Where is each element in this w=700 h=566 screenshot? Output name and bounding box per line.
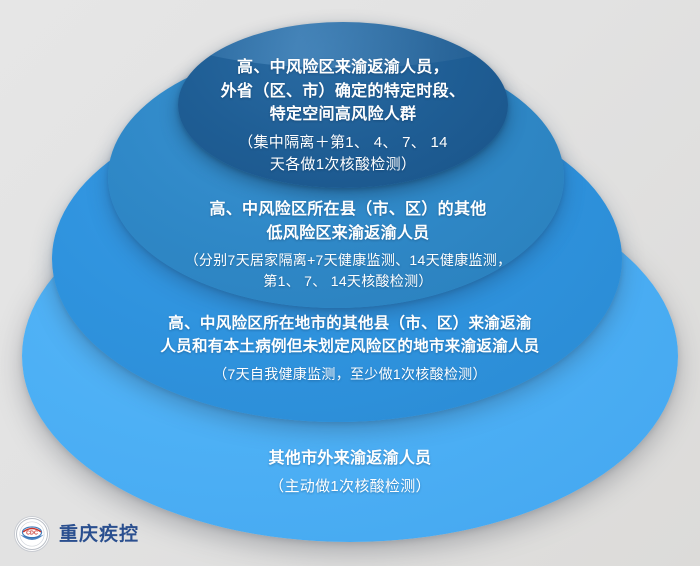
ring-1-note-line: （集中隔离＋第1、 4、 7、 14	[170, 132, 516, 154]
ring-1-title-line: 高、中风险区来渝返渝人员，	[170, 56, 516, 80]
ring-2-title: 高、中风险区所在县（市、区）的其他 低风险区来渝返渝人员	[150, 198, 546, 245]
ring-4-title-line: 其他市外来渝返渝人员	[180, 447, 520, 471]
ring-2-title-line: 低风险区来渝返渝人员	[150, 222, 546, 246]
ring-4-title: 其他市外来渝返渝人员	[180, 447, 520, 471]
ring-1-title: 高、中风险区来渝返渝人员， 外省（区、市）确定的特定时段、 特定空间高风险人群	[170, 56, 516, 127]
ring-1-title-line: 特定空间高风险人群	[170, 103, 516, 127]
ring-4-text-block: 其他市外来渝返渝人员 （主动做1次核酸检测）	[180, 447, 520, 498]
ring-2-note-line: （分别7天居家隔离+7天健康监测、14天健康监测，	[150, 250, 546, 271]
ring-3-note-line: （7天自我健康监测，至少做1次核酸检测）	[112, 364, 588, 385]
logo-text: 重庆疾控	[59, 525, 139, 544]
ring-1-text-block: 高、中风险区来渝返渝人员， 外省（区、市）确定的特定时段、 特定空间高风险人群 …	[170, 56, 516, 176]
svg-text:CDC: CDC	[26, 530, 38, 536]
ring-2-text-block: 高、中风险区所在县（市、区）的其他 低风险区来渝返渝人员 （分别7天居家隔离+7…	[150, 198, 546, 292]
ring-2-note: （分别7天居家隔离+7天健康监测、14天健康监测， 第1、 7、 14天核酸检测…	[150, 250, 546, 291]
ring-1-note-line: 天各做1次核酸检测）	[170, 154, 516, 176]
ring-3-text-block: 高、中风险区所在地市的其他县（市、区）来渝返渝 人员和有本土病例但未划定风险区的…	[112, 313, 588, 385]
ring-4-note: （主动做1次核酸检测）	[180, 476, 520, 498]
ring-1-title-line: 外省（区、市）确定的特定时段、	[170, 80, 516, 104]
brand-logo: CDC 重庆疾控	[14, 516, 139, 552]
ring-1-note: （集中隔离＋第1、 4、 7、 14 天各做1次核酸检测）	[170, 132, 516, 176]
ring-3-title-line: 高、中风险区所在地市的其他县（市、区）来渝返渝	[112, 313, 588, 336]
chongqing-cdc-emblem-icon: CDC	[14, 516, 50, 552]
ring-2-note-line: 第1、 7、 14天核酸检测）	[150, 271, 546, 292]
infographic-canvas: 高、中风险区来渝返渝人员， 外省（区、市）确定的特定时段、 特定空间高风险人群 …	[0, 0, 700, 566]
ring-3-note: （7天自我健康监测，至少做1次核酸检测）	[112, 364, 588, 385]
ring-3-title-line: 人员和有本土病例但未划定风险区的地市来渝返渝人员	[112, 336, 588, 359]
ring-2-title-line: 高、中风险区所在县（市、区）的其他	[150, 198, 546, 222]
ring-4-note-line: （主动做1次核酸检测）	[180, 476, 520, 498]
ring-3-title: 高、中风险区所在地市的其他县（市、区）来渝返渝 人员和有本土病例但未划定风险区的…	[112, 313, 588, 359]
